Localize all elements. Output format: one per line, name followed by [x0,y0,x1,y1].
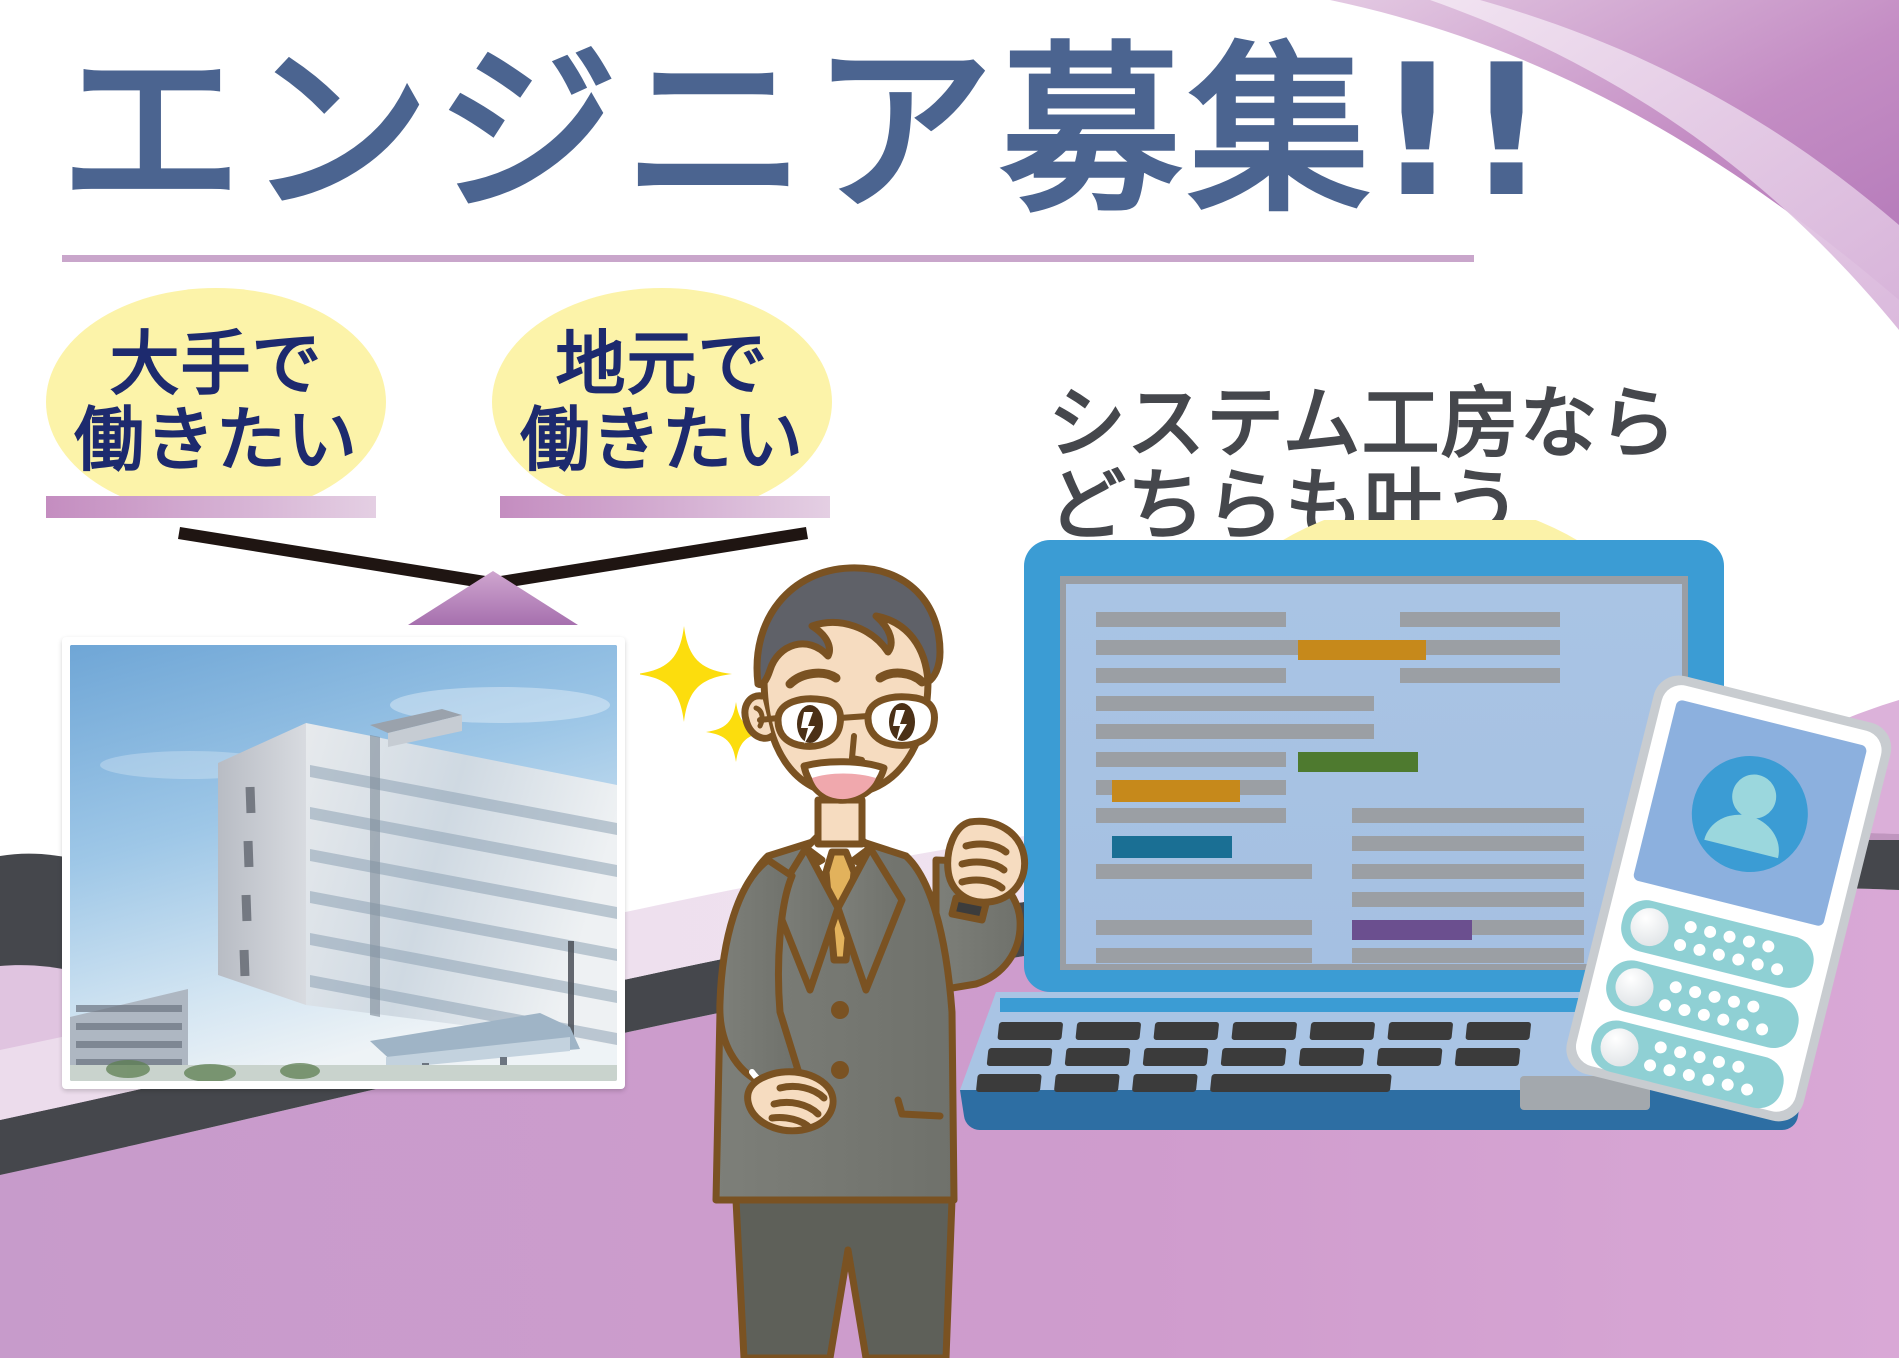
code-highlight-purple [1352,920,1472,940]
tagline-line-1: システム工房なら [1048,383,1678,465]
bubble-1-line-2: 働きたい [74,402,358,478]
bubble-large-company: 大手で 働きたい [46,288,386,516]
code-highlight-orange-1 [1298,640,1426,660]
businessman-illustration [640,560,1060,1358]
office-building-photo [62,637,625,1089]
bubble-1-line-1: 大手で [110,326,323,402]
page-title: エンジニア募集!! [60,22,1490,242]
code-highlight-orange-2 [1112,780,1240,802]
bubble-2-line-2: 働きたい [520,402,804,478]
bubble-2-line-1: 地元で [556,326,769,402]
recruitment-poster: エンジニア募集!! 大手で 働きたい 地元で 働きたい [0,0,1899,1358]
code-highlight-teal [1112,836,1232,858]
code-highlight-green [1298,752,1418,772]
bubble-local-area: 地元で 働きたい [492,288,832,516]
technology-illustration [960,520,1899,1140]
title-divider [62,255,1474,262]
office-building-image [70,645,617,1081]
